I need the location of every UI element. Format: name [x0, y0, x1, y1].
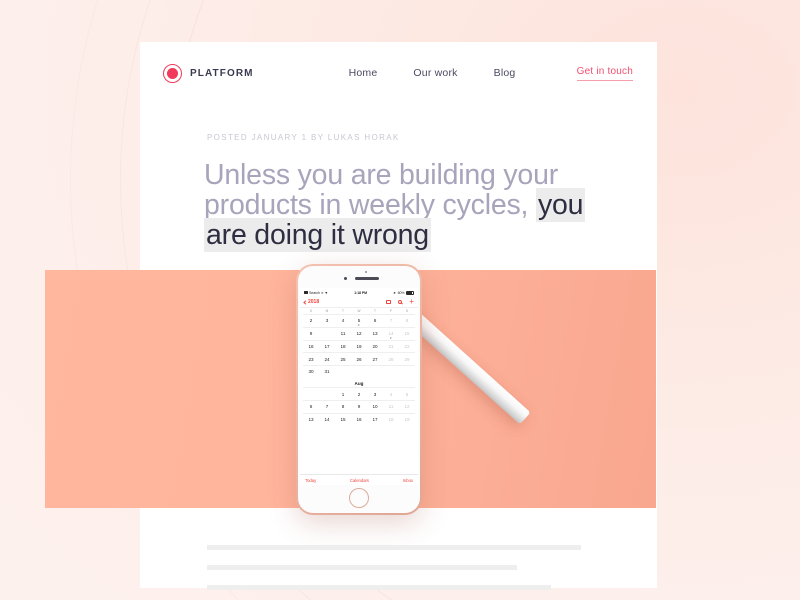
weekday-label: M [319, 308, 335, 314]
main-navigation: Home Our work Blog [349, 67, 516, 79]
calendar-day-cell[interactable]: 15 [335, 414, 351, 426]
site-header: PLATFORM Home Our work Blog Get in touch [140, 42, 657, 104]
status-battery: ➤ 60% [393, 291, 414, 295]
signal-icon: ▪▪ [321, 291, 323, 295]
calendar-day-cell[interactable]: 3 [367, 388, 383, 400]
phone-top-bezel [298, 266, 420, 288]
calendar-day-cell[interactable]: 24 [319, 353, 335, 365]
calendar-day-cell[interactable]: 18 [335, 341, 351, 353]
today-button[interactable]: Today [305, 478, 316, 483]
calendar-day-cell[interactable]: 2 [303, 315, 319, 327]
location-icon: ➤ [393, 291, 396, 295]
calendar-day-cell[interactable]: 12 [399, 401, 415, 413]
calendar-navbar: 2018 + [300, 297, 418, 308]
status-time: 1:18 PM [354, 291, 367, 295]
calendar-day-cell[interactable]: 7 [319, 401, 335, 413]
calendar-day-cell[interactable]: 17 [367, 414, 383, 426]
nav-link-our-work[interactable]: Our work [413, 67, 457, 79]
calendar-actions: + [386, 300, 414, 305]
phone-screen: Search ▪▪ ▼ 1:18 PM ➤ 60% 2018 [300, 288, 418, 485]
weekday-label: T [367, 308, 383, 314]
calendar-day-cell [319, 388, 335, 400]
battery-icon [406, 291, 414, 295]
calendar-day-cell[interactable]: 31 [319, 366, 335, 378]
plus-icon[interactable]: + [409, 300, 414, 304]
calendar-day-cell [351, 366, 367, 378]
calendar-day-cell[interactable]: 2 [351, 388, 367, 400]
calendar-day-cell [303, 388, 319, 400]
status-battery-label: 60% [398, 291, 405, 295]
calendar-day-cell[interactable]: 9 [303, 328, 319, 340]
calendar-day-cell[interactable]: 6 [303, 401, 319, 413]
calendar-day-cell[interactable]: 16 [351, 414, 367, 426]
calendar-day-cell[interactable]: 10 [367, 401, 383, 413]
circle-logo-icon [163, 64, 182, 83]
calendar-day-cell[interactable]: 17 [319, 341, 335, 353]
calendar-year-label: 2018 [308, 299, 319, 305]
page-title: Unless you are building your products in… [204, 160, 604, 250]
inbox-icon[interactable] [386, 300, 391, 305]
calendar-week-row: 16171819202122 [303, 340, 415, 353]
home-button[interactable] [349, 488, 369, 508]
weekday-label: S [399, 308, 415, 314]
calendar-day-cell[interactable]: 11 [335, 328, 351, 340]
nav-link-home[interactable]: Home [349, 67, 378, 79]
content-bar [207, 545, 581, 550]
calendar-day-cell[interactable]: 19 [399, 414, 415, 426]
calendar-day-cell[interactable]: 23 [303, 353, 319, 365]
brand-logo[interactable]: PLATFORM [163, 64, 254, 83]
calendar-day-cell[interactable]: 26 [351, 353, 367, 365]
content-bar [207, 565, 517, 570]
content-bar [207, 585, 551, 590]
speaker-icon [355, 277, 379, 280]
calendar-day-cell[interactable]: 8 [335, 401, 351, 413]
calendar-week-row: 2345678 [303, 314, 415, 327]
calendar-day-cell[interactable]: 15 [399, 328, 415, 340]
calendar-day-cell[interactable]: 5 [399, 388, 415, 400]
sensor-icon [365, 271, 367, 273]
calendar-day-cell[interactable]: 25 [335, 353, 351, 365]
status-carrier: Search ▪▪ ▼ [304, 291, 328, 295]
calendar-grid-jul: 2345678910111213141516171819202122232425… [303, 314, 415, 378]
calendar-day-cell[interactable]: 14 [319, 414, 335, 426]
calendar-day-cell[interactable]: 30 [303, 366, 319, 378]
calendar-week-row: 13141516171819 [303, 413, 415, 426]
calendar-day-cell[interactable]: 7 [383, 315, 399, 327]
calendars-button[interactable]: Calendars [350, 478, 369, 483]
calendar-day-cell[interactable]: 9 [351, 401, 367, 413]
calendar-day-cell[interactable]: 19 [351, 341, 367, 353]
calendar-day-cell[interactable]: 27 [367, 353, 383, 365]
calendar-day-cell[interactable]: 5 [351, 315, 367, 327]
calendar-day-cell[interactable]: 16 [303, 341, 319, 353]
wifi-icon: ▼ [325, 291, 328, 295]
chevron-left-icon [303, 300, 307, 304]
status-carrier-label: Search [309, 291, 320, 295]
calendar-day-cell[interactable]: 10 [319, 328, 335, 340]
calendar-day-cell[interactable]: 22 [399, 341, 415, 353]
back-app-icon [304, 291, 308, 295]
phone-body: Search ▪▪ ▼ 1:18 PM ➤ 60% 2018 [298, 266, 420, 513]
calendar-day-cell[interactable]: 29 [399, 353, 415, 365]
month-label-aug: Aug [303, 378, 415, 388]
status-bar: Search ▪▪ ▼ 1:18 PM ➤ 60% [300, 288, 418, 297]
calendar-day-cell[interactable]: 21 [383, 341, 399, 353]
calendar-month-aug: Aug 12345678910111213141516171819 [300, 378, 418, 426]
calendar-day-cell[interactable]: 4 [383, 388, 399, 400]
headline-lead: Unless you are building your products in… [204, 159, 558, 221]
article-meta: POSTED JANUARY 1 BY LUKAS HORAK [207, 133, 400, 142]
calendar-day-cell[interactable]: 28 [383, 353, 399, 365]
content-placeholder [207, 545, 587, 600]
nav-link-blog[interactable]: Blog [494, 67, 516, 79]
calendar-day-cell[interactable]: 6 [367, 315, 383, 327]
calendar-week-row: 12345 [303, 387, 415, 400]
calendar-week-row: 3031 [303, 365, 415, 378]
get-in-touch-button[interactable]: Get in touch [577, 66, 633, 81]
calendar-day-cell[interactable]: 3 [319, 315, 335, 327]
weekday-row: S M T W T F S [303, 308, 415, 314]
calendar-day-cell [367, 366, 383, 378]
calendar-day-cell[interactable]: 4 [335, 315, 351, 327]
weekday-label: W [351, 308, 367, 314]
weekday-label: T [335, 308, 351, 314]
inbox-button[interactable]: Inbox [403, 478, 413, 483]
calendar-toolbar: Today Calendars Inbox [300, 474, 418, 485]
calendar-day-cell[interactable]: 14 [383, 328, 399, 340]
calendar-day-cell[interactable]: 20 [367, 341, 383, 353]
brand-name: PLATFORM [190, 68, 254, 79]
calendar-month-jul: S M T W T F S 23456789101112131415161718… [300, 308, 418, 378]
calendar-day-cell [383, 366, 399, 378]
calendar-grid-aug: 12345678910111213141516171819 [303, 387, 415, 425]
calendar-day-cell [335, 366, 351, 378]
calendar-day-cell[interactable]: 13 [303, 414, 319, 426]
calendar-day-cell [399, 366, 415, 378]
calendar-week-row: 23242526272829 [303, 352, 415, 365]
calendar-day-cell[interactable]: 8 [399, 315, 415, 327]
iphone-mockup: Search ▪▪ ▼ 1:18 PM ➤ 60% 2018 [296, 264, 422, 515]
calendar-day-cell[interactable]: 12 [351, 328, 367, 340]
search-icon[interactable] [398, 300, 402, 304]
calendar-day-cell[interactable]: 13 [367, 328, 383, 340]
calendar-week-row: 6789101112 [303, 400, 415, 413]
calendar-back-year-button[interactable]: 2018 [304, 299, 319, 305]
calendar-day-cell[interactable]: 18 [383, 414, 399, 426]
weekday-label: S [303, 308, 319, 314]
calendar-day-cell[interactable]: 1 [335, 388, 351, 400]
camera-icon [344, 277, 347, 280]
weekday-label: F [383, 308, 399, 314]
calendar-week-row: 9101112131415 [303, 327, 415, 340]
calendar-day-cell[interactable]: 11 [383, 401, 399, 413]
